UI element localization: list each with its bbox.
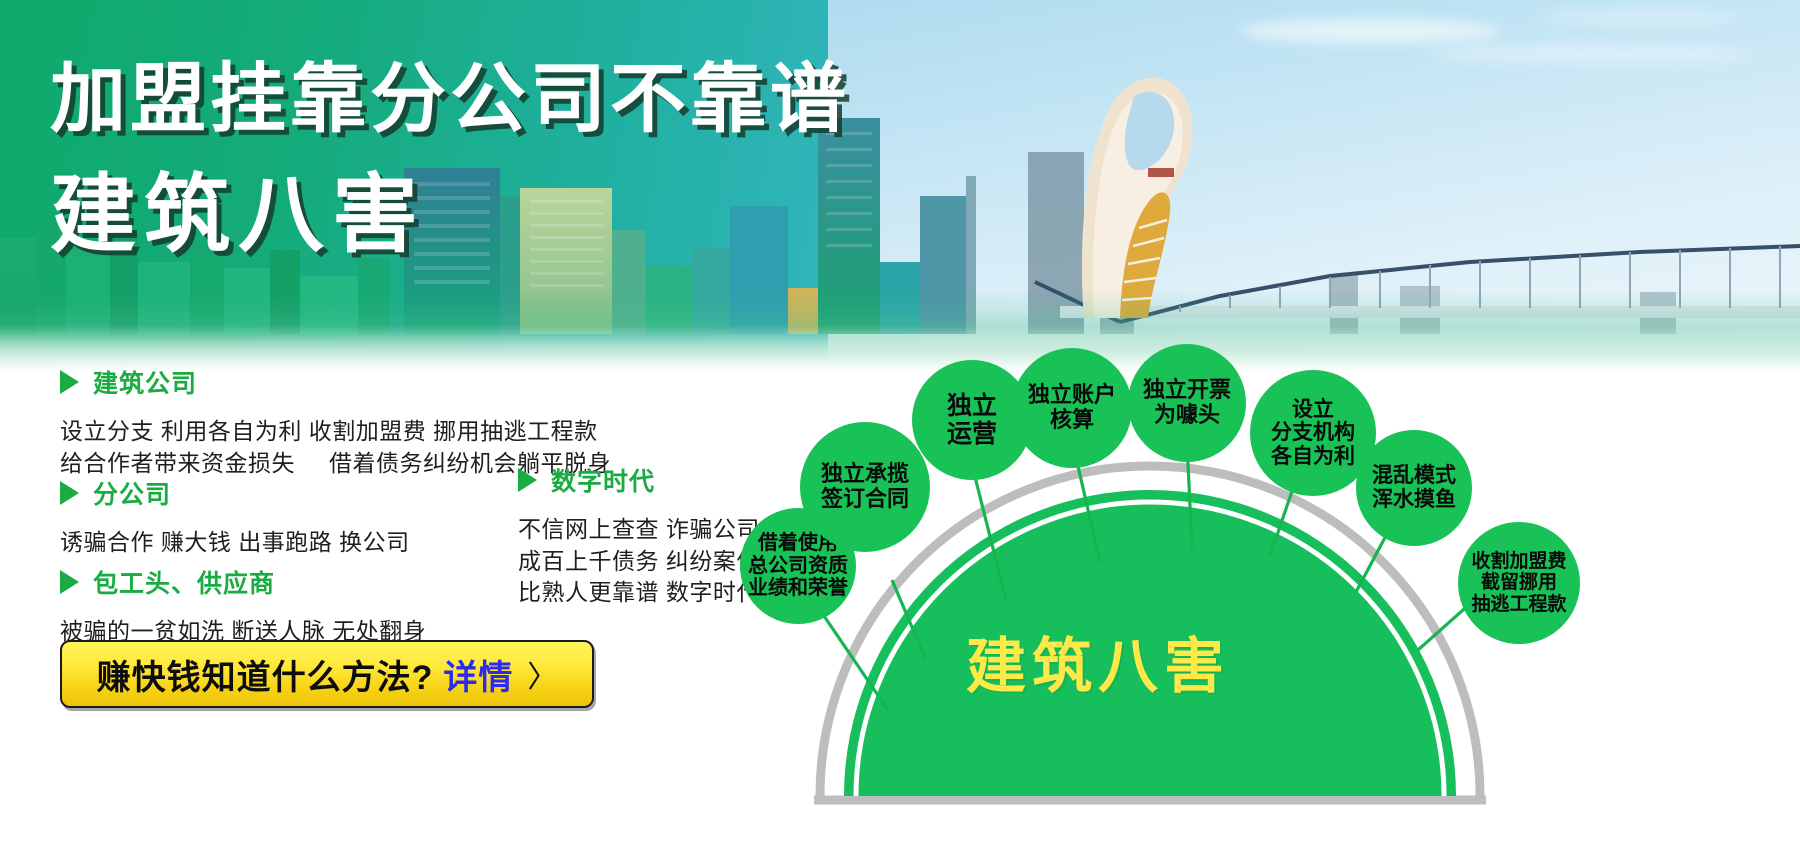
section-line: 设立分支 利用各自为利 收割加盟费 挪用抽逃工程款 bbox=[60, 416, 611, 448]
hero-title-line1: 加盟挂靠分公司不靠谱 bbox=[50, 62, 850, 138]
section-heading-text: 分公司 bbox=[93, 475, 171, 511]
bubble-label: 独立开票 为噱头 bbox=[1143, 378, 1231, 427]
chevron-right-icon: 〉 bbox=[527, 652, 557, 696]
bridge-pylon-icon bbox=[1035, 78, 1800, 322]
section-heading-row: 建筑公司 bbox=[60, 364, 611, 400]
cta-detail-link[interactable]: 详情 bbox=[443, 650, 513, 699]
section-line: 不信网上查查 诈骗公司 bbox=[518, 514, 760, 546]
section-heading-row: 数字时代 bbox=[518, 462, 760, 498]
section-line-part: 给合作者带来资金损失 bbox=[60, 450, 295, 476]
bubble-item[interactable]: 独立账户 核算 bbox=[1012, 348, 1132, 468]
bubble-label: 混乱模式 浑水摸鱼 bbox=[1372, 464, 1456, 511]
bubble-label: 独立账户 核算 bbox=[1028, 383, 1116, 432]
section-contractor-supplier: 包工头、供应商 被骗的一贫如洗 断送人脉 无处翻身 bbox=[60, 564, 426, 648]
bubble-label: 收割加盟费 截留挪用 抽逃工程款 bbox=[1471, 551, 1566, 615]
section-heading-text: 包工头、供应商 bbox=[93, 564, 275, 600]
content-column: 建筑公司 设立分支 利用各自为利 收割加盟费 挪用抽逃工程款 给合作者带来资金损… bbox=[0, 372, 830, 844]
section-lines: 诱骗合作 赚大钱 出事跑路 换公司 bbox=[60, 527, 410, 559]
bubble-label: 设立 分支机构 各自为利 bbox=[1271, 398, 1355, 469]
dome-title: 建筑八害 bbox=[966, 618, 1230, 705]
bubble-item[interactable]: 收割加盟费 截留挪用 抽逃工程款 bbox=[1458, 522, 1580, 644]
hero-banner: 加盟挂靠分公司不靠谱 建筑八害 bbox=[0, 0, 1800, 372]
bubble-item[interactable]: 混乱模式 浑水摸鱼 bbox=[1356, 430, 1472, 546]
section-branch-company: 分公司 诱骗合作 赚大钱 出事跑路 换公司 bbox=[60, 475, 410, 559]
bubble-item[interactable]: 独立承揽 签订合同 bbox=[800, 422, 930, 552]
triangle-bullet-icon bbox=[60, 481, 79, 505]
bubble-item[interactable]: 独立开票 为噱头 bbox=[1128, 344, 1246, 462]
triangle-bullet-icon bbox=[60, 370, 79, 394]
section-digital-era: 数字时代 不信网上查查 诈骗公司 成百上千债务 纠纷案件 比熟人更靠谱 数字时代 bbox=[518, 462, 760, 609]
poster-root: 加盟挂靠分公司不靠谱 建筑八害 建筑公司 设立分支 利用各自为利 收割加盟费 挪… bbox=[0, 0, 1800, 844]
cta-question: 赚快钱知道什么方法? bbox=[97, 650, 434, 699]
section-heading-row: 包工头、供应商 bbox=[60, 564, 426, 600]
section-heading-text: 建筑公司 bbox=[93, 364, 197, 400]
hero-title-line2: 建筑八害 bbox=[50, 172, 426, 258]
bubble-label: 独立 运营 bbox=[947, 392, 997, 448]
triangle-bullet-icon bbox=[60, 570, 79, 594]
section-heading-text: 数字时代 bbox=[551, 462, 655, 498]
section-heading-row: 分公司 bbox=[60, 475, 410, 511]
diagram-panel: 借着使用 总公司资质 业绩和荣誉 独立承揽 签订合同 独立 运营 独立账户 核算… bbox=[800, 330, 1800, 844]
bubble-label: 独立承揽 签订合同 bbox=[821, 462, 909, 511]
triangle-bullet-icon bbox=[518, 468, 537, 492]
section-line: 诱骗合作 赚大钱 出事跑路 换公司 bbox=[60, 527, 410, 559]
section-lines: 不信网上查查 诈骗公司 成百上千债务 纠纷案件 比熟人更靠谱 数字时代 bbox=[518, 514, 760, 609]
section-line: 比熟人更靠谱 数字时代 bbox=[518, 577, 760, 609]
section-line: 成百上千债务 纠纷案件 bbox=[518, 546, 760, 578]
cta-button[interactable]: 赚快钱知道什么方法? 详情 〉 bbox=[60, 640, 594, 708]
